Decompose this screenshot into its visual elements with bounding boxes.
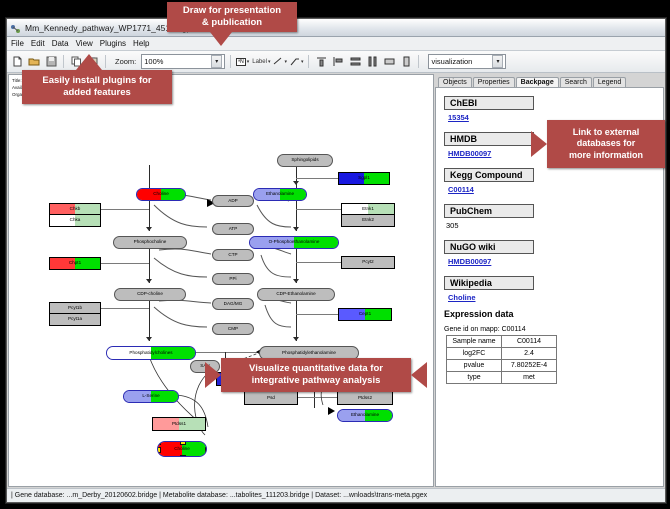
selection-handle[interactable] [157,441,161,445]
metabolite-node[interactable]: CMP [212,323,254,335]
backpage-value: 305 [446,221,663,230]
align-top-icon[interactable] [314,55,328,69]
datanode-tool[interactable]: ªN ▾ [236,58,249,66]
expr-key: pvalue [447,360,502,372]
expr-value: met [502,372,557,384]
node-label: Ethanolamine [266,192,294,197]
same-height-icon[interactable] [399,55,413,69]
metabolite-node[interactable]: Choline [157,441,207,457]
interaction-tool[interactable]: ▾ [290,57,304,66]
node-label: Choline [174,447,190,452]
status-bar: | Gene database: ...m_Derby_20120602.bri… [7,488,665,502]
node-label: CDP-choline [137,292,163,297]
backpage-section-header: PubChem [444,204,534,218]
expression-table: Sample nameC00114log2FC2.4pvalue7.80252E… [446,335,557,384]
callout-plugins-text: Easily install plugins for added feature… [42,75,151,99]
tab-properties[interactable]: Properties [473,77,515,87]
callout-quant: Visualize quantitative data for integrat… [221,358,411,392]
node-label: DAG/MG [224,302,243,307]
expr-key: log2FC [447,348,502,360]
backpage-section-header: Wikipedia [444,276,534,290]
gene-node[interactable]: Chka [49,214,101,227]
node-label: Ethanolamine [351,413,379,418]
chevron-down-icon[interactable]: ▾ [492,55,503,68]
chevron-down-icon[interactable]: ▾ [247,59,250,65]
metabolite-node[interactable]: L-Serine [123,390,179,403]
distribute-horizontal-icon[interactable] [365,55,379,69]
menu-view[interactable]: View [76,39,93,48]
node-label: Ptdss1 [172,422,186,427]
gene-node[interactable]: Ptdss2 [337,391,393,405]
expr-key: type [447,372,502,384]
label-tool[interactable]: Label ▾ [252,59,270,65]
zoom-value: 100% [144,57,163,66]
node-label: O-Phosphoethanolamine [269,240,320,245]
chevron-down-icon[interactable]: ▾ [211,55,222,68]
label-tool-caption: Label [252,59,267,65]
node-label: Chkb [70,207,81,212]
backpage-section: WikipediaCholine [444,273,663,302]
metabolite-node[interactable]: Phosphocholine [113,236,187,249]
chevron-down-icon[interactable]: ▾ [301,59,304,65]
backpage-link[interactable]: HMDB00097 [448,257,663,266]
expr-value: 7.80252E-4 [502,360,557,372]
backpage-section-header: Kegg Compound [444,168,534,182]
node-label: Pcyt2 [362,260,374,265]
metabolite-node[interactable]: CTP [212,249,254,261]
node-label: Phosphatidylethanolamine [282,351,336,356]
table-row: typemet [447,372,557,384]
gene-node[interactable]: Pcyt1a [49,313,101,326]
backpage-link[interactable]: C00114 [448,185,663,194]
backpage-section: PubChem305 [444,201,663,230]
metabolite-node[interactable]: Ethanolamine [337,409,393,422]
node-label: Sphingolipids [291,158,318,163]
expr-value: C00114 [502,336,557,348]
metabolite-node[interactable]: DAG/MG [212,298,254,310]
arrow-line-icon [290,57,300,66]
chevron-down-icon[interactable]: ▾ [268,59,271,65]
node-label: Phosphatidylcholines [129,351,172,356]
node-label: Phosphocholine [134,240,167,245]
node-label: Pcyt1b [68,306,82,311]
backpage-section: ChEBI15354 [444,93,663,122]
metabolite-node[interactable]: ATP [212,223,254,235]
side-panel-tabs: ObjectsPropertiesBackpageSearchLegend [435,74,664,87]
callout-plugins: Easily install plugins for added feature… [22,70,172,104]
gene-id-on-mapp: Gene id on mapp: C00114 [444,326,663,333]
node-label: ADP [228,199,237,204]
menu-bar: File Edit Data View Plugins Help [7,37,665,51]
callout-quant-pointer [205,362,221,388]
gene-node[interactable]: Psd [244,391,298,405]
new-icon[interactable] [10,55,24,69]
table-row: pvalue7.80252E-4 [447,360,557,372]
gene-node[interactable]: Etnk2 [341,214,395,227]
expression-data-heading: Expression data [444,309,663,319]
align-left-icon[interactable] [331,55,345,69]
callout-links: Link to external databases for more info… [547,120,665,168]
callout-draw: Draw for presentation & publication [167,2,297,32]
pathway-canvas[interactable]: Title: Availa Organi [8,74,434,487]
callout-links-pointer [531,131,547,157]
menu-data[interactable]: Data [52,39,69,48]
backpage-link[interactable]: Choline [448,293,663,302]
node-label: Etnk2 [362,218,374,223]
toolbar-separator [230,55,231,68]
gene-node[interactable]: Sgpl1 [338,172,390,185]
node-label: CMP [228,327,238,332]
table-row: log2FC2.4 [447,348,557,360]
toolbar-separator [63,55,64,68]
callout-quant-pointer-right [411,362,427,388]
same-width-icon[interactable] [382,55,396,69]
metabolite-node[interactable]: CDP-Ethanolamine [257,288,335,301]
menu-file[interactable]: File [11,39,24,48]
node-label: Ptdss2 [358,396,372,401]
metabolite-node[interactable]: Ethanolamine [253,188,307,201]
node-label: Sgpl1 [358,176,370,181]
callout-quant-text: Visualize quantitative data for integrat… [249,363,383,387]
save-icon[interactable] [44,55,58,69]
metabolite-node[interactable]: ADP [212,195,254,207]
zoom-select[interactable]: 100% ▾ [141,54,225,69]
gene-node[interactable]: Cept1 [338,308,392,321]
backpage-section-header: ChEBI [444,96,534,110]
node-label: CDP-Ethanolamine [276,292,315,297]
selection-handle[interactable] [180,455,186,457]
node-label: ATP [229,227,238,232]
visualization-select[interactable]: visualization ▾ [428,54,506,69]
chevron-down-icon[interactable]: ▾ [284,59,287,65]
menu-help[interactable]: Help [133,39,149,48]
selection-handle[interactable] [180,441,186,445]
tab-objects[interactable]: Objects [438,77,472,87]
app-icon [10,22,21,33]
open-icon[interactable] [27,55,41,69]
expr-key: Sample name [447,336,502,348]
menu-edit[interactable]: Edit [31,39,45,48]
visualization-value: visualization [431,57,472,66]
metabolite-node[interactable]: Sphingolipids [277,154,333,167]
node-label: Choline [153,192,169,197]
node-label: L-Serine [142,394,159,399]
backpage-section: Kegg CompoundC00114 [444,165,663,194]
metabolite-node[interactable]: PPi [212,273,254,285]
callout-draw-text: Draw for presentation & publication [183,5,281,29]
table-row: Sample nameC00114 [447,336,557,348]
metabolite-node[interactable]: Phosphatidylcholines [106,346,196,360]
callout-draw-pointer [210,32,232,46]
node-label: CTP [228,253,237,258]
menu-plugins[interactable]: Plugins [100,39,126,48]
zoom-label: Zoom: [115,57,136,66]
gene-node[interactable]: Chpt1 [49,257,101,270]
node-label: Chpt1 [69,261,81,266]
tab-legend[interactable]: Legend [593,77,626,87]
status-bar-text: | Gene database: ...m_Derby_20120602.bri… [11,492,427,499]
backpage-section-header: HMDB [444,132,534,146]
node-label: Psd [267,396,275,401]
window-titlebar: Mm_Kennedy_pathway_WP1771_45176.gpml [7,19,665,37]
distribute-vertical-icon[interactable] [348,55,362,69]
node-label: Cept1 [359,312,371,317]
toolbar-separator [418,55,419,68]
selection-handle[interactable] [157,447,161,453]
node-label: PPi [229,277,236,282]
metabolite-node[interactable]: CDP-choline [114,288,186,301]
toolbar-separator [308,55,309,68]
node-label: Pcyt1a [68,317,82,322]
node-label: Etnk1 [362,207,374,212]
backpage-section-header: NuGO wiki [444,240,534,254]
gene-node[interactable]: Pcyt2 [341,256,395,269]
callout-links-text: Link to external databases for more info… [569,127,643,161]
toolbar-separator [105,55,106,68]
datanode-icon: ªN [236,58,245,66]
line-icon [273,57,283,66]
metabolite-node[interactable]: O-Phosphoethanolamine [249,236,339,249]
node-label: Chka [70,218,81,223]
tab-backpage[interactable]: Backpage [516,77,559,87]
gene-node[interactable]: Ptdss1 [152,417,206,431]
line-tool[interactable]: ▾ [273,57,287,66]
backpage-section: NuGO wikiHMDB00097 [444,237,663,266]
callout-plugins-pointer [76,54,102,70]
expr-value: 2.4 [502,348,557,360]
tab-search[interactable]: Search [560,77,592,87]
metabolite-node[interactable]: Choline [136,188,186,201]
